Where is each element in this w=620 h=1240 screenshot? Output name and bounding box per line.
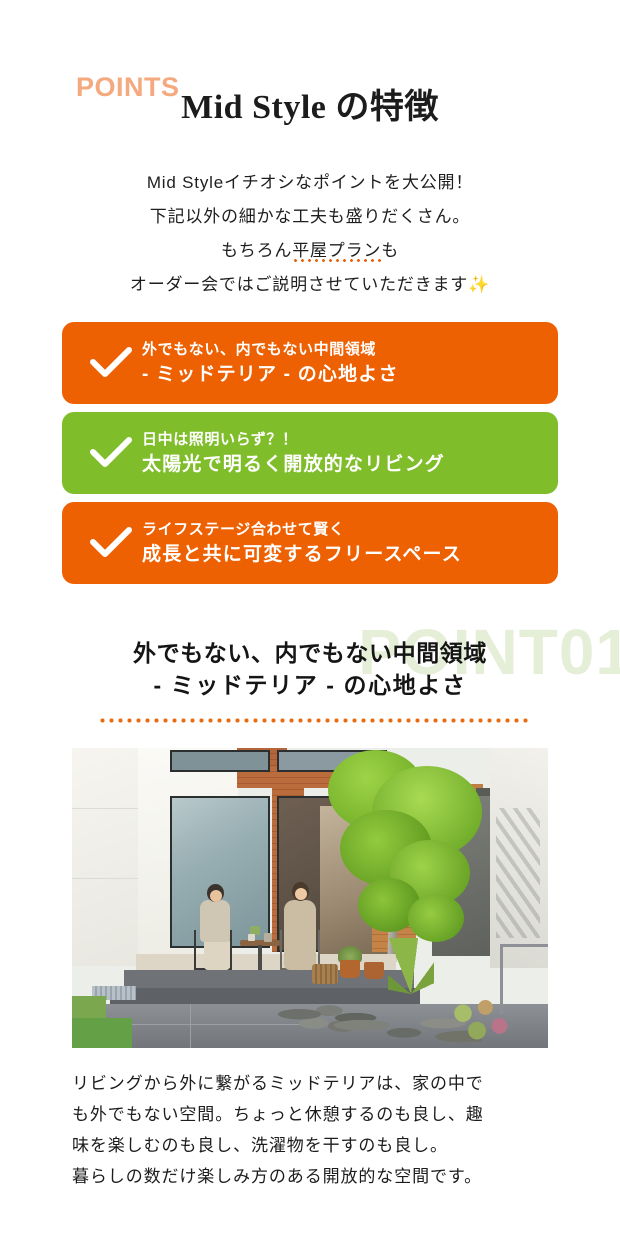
- body-line-4: 暮らしの数だけ楽しみ方のある開放的な空間です。: [72, 1161, 552, 1192]
- page-title: Mid Style の特徴: [0, 88, 620, 127]
- body-line-1: リビングから外に繋がるミッドテリアは、家の中で: [72, 1068, 552, 1099]
- feature-card-3-text: ライフステージ合わせて賢く 成長と共に可変するフリースペース: [142, 522, 462, 564]
- intro-line-3-prefix: もちろん: [221, 241, 292, 260]
- photo-left-wall-seam: [72, 878, 144, 879]
- check-icon: [80, 437, 142, 469]
- photo-person-man-legs: [204, 938, 230, 970]
- photo-patio-joint-v: [190, 1004, 191, 1048]
- intro-line-4-text: オーダー会ではご説明させていただきます: [130, 275, 468, 294]
- feature-card-2-line2: 太陽光で明るく開放的なリビング: [142, 455, 445, 474]
- photo-planter-a: [340, 960, 360, 978]
- photo-railing-bar: [500, 944, 548, 947]
- photo-spiky-plant: [388, 938, 434, 994]
- photo-cup-b: [264, 933, 272, 942]
- point-photo: [72, 748, 548, 1048]
- photo-person-man-body: [200, 900, 230, 942]
- feature-card-3-line2: 成長と共に可変するフリースペース: [142, 545, 462, 564]
- check-icon: [80, 347, 142, 379]
- feature-card-2-line1: 日中は照明いらず？！: [142, 432, 445, 447]
- check-icon: [80, 527, 142, 559]
- page-title-jp: の特徴: [326, 89, 439, 126]
- dotted-divider: [98, 718, 530, 723]
- feature-card-list: 外でもない、内でもない中間領域 - ミッドテリア - の心地よさ 日中は照明いら…: [62, 322, 558, 592]
- photo-person-woman-body: [284, 900, 316, 970]
- feature-card-2-text: 日中は照明いらず？！ 太陽光で明るく開放的なリビング: [142, 432, 445, 474]
- page-title-en: Mid Style: [181, 89, 326, 126]
- photo-side-table-leg: [258, 945, 262, 970]
- feature-card-2[interactable]: 日中は照明いらず？！ 太陽光で明るく開放的なリビング: [62, 412, 558, 494]
- photo-planter-b: [364, 962, 384, 979]
- photo-basket: [312, 964, 338, 984]
- photo-lawn: [72, 1018, 132, 1048]
- intro-line-3: もちろん平屋プランも: [0, 234, 620, 268]
- intro-line-2: 下記以外の細かな工夫も盛りだくさん。: [0, 200, 620, 234]
- photo-person-man-face: [210, 890, 222, 902]
- feature-card-1[interactable]: 外でもない、内でもない中間領域 - ミッドテリア - の心地よさ: [62, 322, 558, 404]
- point-section: POINT01 外でもない、内でもない中間領域 - ミッドテリア - の心地よさ: [0, 612, 620, 762]
- intro-text: Mid Styleイチオシなポイントを大公開！ 下記以外の細かな工夫も盛りだくさ…: [0, 166, 620, 302]
- point-heading: 外でもない、内でもない中間領域 - ミッドテリア - の心地よさ: [0, 612, 620, 702]
- photo-illustration: [72, 748, 548, 1048]
- intro-line-3-suffix: も: [381, 241, 399, 260]
- intro-line-1: Mid Styleイチオシなポイントを大公開！: [0, 166, 620, 200]
- body-line-3: 味を楽しむのも良し、洗濯物を干すのも良し。: [72, 1130, 552, 1161]
- page-root: POINTS Mid Style の特徴 Mid Styleイチオシなポイントを…: [0, 0, 620, 1240]
- body-line-2: も外でもない空間。ちょっと休憩するのも良し、趣: [72, 1099, 552, 1130]
- feature-card-1-text: 外でもない、内でもない中間領域 - ミッドテリア - の心地よさ: [142, 342, 399, 384]
- body-paragraph: リビングから外に繋がるミッドテリアは、家の中で も外でもない空間。ちょっと休憩す…: [72, 1068, 552, 1192]
- point-heading-line1: 外でもない、内でもない中間領域: [0, 638, 620, 669]
- photo-clerestory-left: [170, 750, 270, 772]
- feature-card-3[interactable]: ライフステージ合わせて賢く 成長と共に可変するフリースペース: [62, 502, 558, 584]
- photo-left-wall: [72, 748, 144, 966]
- feature-card-3-line1: ライフステージ合わせて賢く: [142, 522, 462, 537]
- header-block: POINTS Mid Style の特徴: [0, 0, 620, 112]
- sparkles-icon: ✨: [468, 275, 490, 294]
- point-heading-line2: - ミッドテリア - の心地よさ: [0, 669, 620, 702]
- photo-person-woman-face: [295, 888, 307, 900]
- intro-line-4: オーダー会ではご説明させていただきます✨: [0, 268, 620, 302]
- photo-wall-shadow: [496, 808, 540, 938]
- photo-cup-a: [248, 934, 255, 941]
- photo-railing-post: [500, 944, 503, 1014]
- photo-tree-foliage: [408, 894, 464, 942]
- feature-card-1-line1: 外でもない、内でもない中間領域: [142, 342, 399, 357]
- intro-emphasis: 平屋プラン: [292, 241, 381, 265]
- feature-card-1-line2: - ミッドテリア - の心地よさ: [142, 365, 399, 384]
